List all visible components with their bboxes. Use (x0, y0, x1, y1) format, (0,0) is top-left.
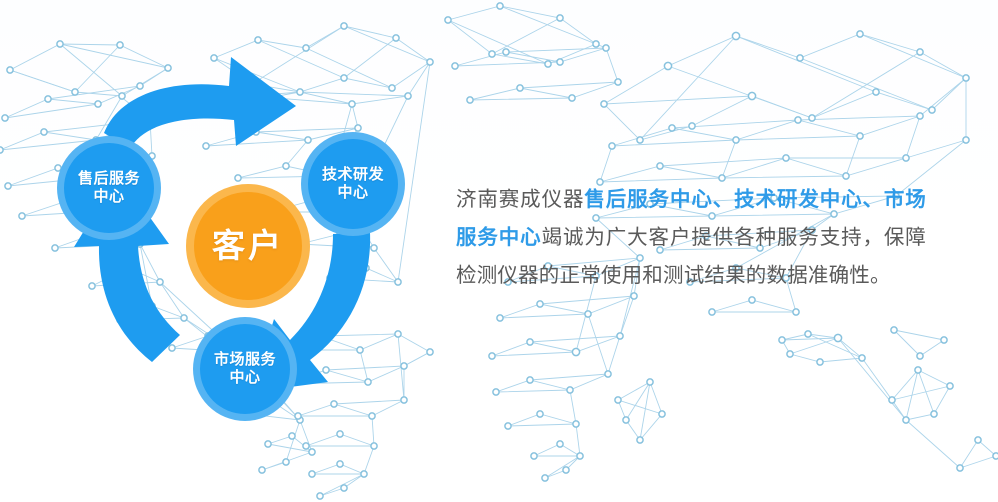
description-paragraph: 济南赛成仪器售后服务中心、技术研发中心、市场服务中心竭诚为广大客户提供各种服务支… (456, 181, 926, 295)
node-rnd-center[interactable]: 技术研发中心 (301, 132, 405, 236)
node-aftersales-label: 售后服务中心 (78, 170, 140, 205)
curved-arrow-right-icon (104, 57, 296, 149)
node-market-service-center[interactable]: 市场服务中心 (193, 317, 297, 421)
node-customer-center[interactable]: 客户 (186, 184, 310, 308)
service-cycle-diagram: 售后服务中心 技术研发中心 市场服务中心 客户 (0, 0, 440, 502)
node-market-label: 市场服务中心 (214, 351, 276, 386)
banner-stage: 售后服务中心 技术研发中心 市场服务中心 客户 济南赛成仪器售后服务中心、技术研… (0, 0, 998, 502)
description-segment-1: 济南赛成仪器 (456, 188, 584, 211)
node-customer-label: 客户 (212, 227, 284, 266)
node-aftersales-service-center[interactable]: 售后服务中心 (57, 136, 161, 240)
node-rnd-label: 技术研发中心 (322, 166, 384, 201)
